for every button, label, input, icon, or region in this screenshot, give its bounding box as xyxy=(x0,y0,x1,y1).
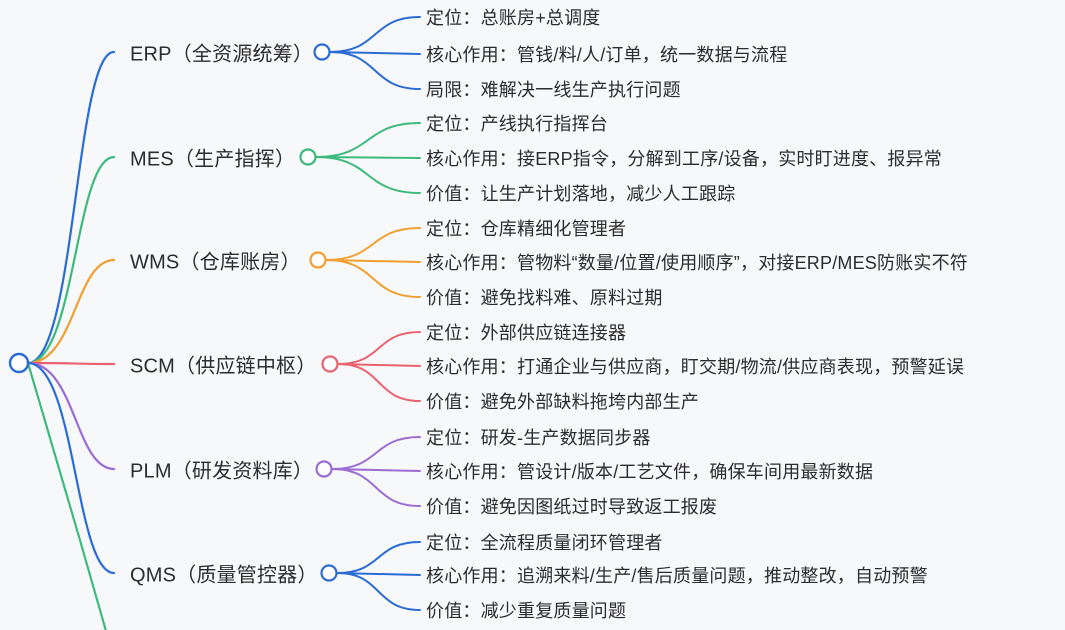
leaf-text-plm-0[interactable]: 定位：研发-生产数据同步器 xyxy=(426,424,651,450)
leaf-text-qms-0[interactable]: 定位：全流程质量闭环管理者 xyxy=(426,529,663,555)
leaf-text-erp-2[interactable]: 局限：难解决一线生产执行问题 xyxy=(426,76,681,102)
leaf-text-wms-0[interactable]: 定位：仓库精细化管理者 xyxy=(426,215,626,241)
leaf-text-scm-1[interactable]: 核心作用：打通企业与供应商，盯交期/物流/供应商表现，预警延误 xyxy=(426,353,964,379)
leaf-text-erp-0[interactable]: 定位：总账房+总调度 xyxy=(426,4,601,30)
leaf-text-qms-1[interactable]: 核心作用：追溯来料/生产/售后质量问题，推动整改，自动预警 xyxy=(426,562,928,588)
branch-label-erp[interactable]: ERP（全资源统筹） xyxy=(130,38,313,67)
leaf-text-wms-2[interactable]: 价值：避免找料难、原料过期 xyxy=(426,284,663,310)
leaf-text-mes-2[interactable]: 价值：让生产计划落地，减少人工跟踪 xyxy=(426,180,735,206)
branch-label-plm[interactable]: PLM（研发资料库） xyxy=(130,455,313,484)
leaf-text-plm-1[interactable]: 核心作用：管设计/版本/工艺文件，确保车间用最新数据 xyxy=(426,458,873,484)
leaf-text-mes-0[interactable]: 定位：产线执行指挥台 xyxy=(426,110,608,136)
mind-map-diagram: ERP（全资源统筹）定位：总账房+总调度核心作用：管钱/料/人/订单，统一数据与… xyxy=(0,0,1065,630)
mind-map-labels: ERP（全资源统筹）定位：总账房+总调度核心作用：管钱/料/人/订单，统一数据与… xyxy=(0,0,1065,630)
leaf-text-scm-2[interactable]: 价值：避免外部缺料拖垮内部生产 xyxy=(426,388,699,414)
branch-label-mes[interactable]: MES（生产指挥） xyxy=(130,143,295,172)
leaf-text-wms-1[interactable]: 核心作用：管物料“数量/位置/使用顺序”，对接ERP/MES防账实不符 xyxy=(426,249,968,275)
leaf-text-qms-2[interactable]: 价值：减少重复质量问题 xyxy=(426,597,626,623)
leaf-text-erp-1[interactable]: 核心作用：管钱/料/人/订单，统一数据与流程 xyxy=(426,41,787,67)
branch-label-wms[interactable]: WMS（仓库账房） xyxy=(130,246,301,275)
leaf-text-plm-2[interactable]: 价值：避免因图纸过时导致返工报废 xyxy=(426,493,717,519)
branch-label-qms[interactable]: QMS（质量管控器） xyxy=(130,559,318,588)
leaf-text-scm-0[interactable]: 定位：外部供应链连接器 xyxy=(426,319,626,345)
leaf-text-mes-1[interactable]: 核心作用：接ERP指令，分解到工序/设备，实时盯进度、报异常 xyxy=(426,145,942,171)
branch-label-scm[interactable]: SCM（供应链中枢） xyxy=(130,350,316,379)
